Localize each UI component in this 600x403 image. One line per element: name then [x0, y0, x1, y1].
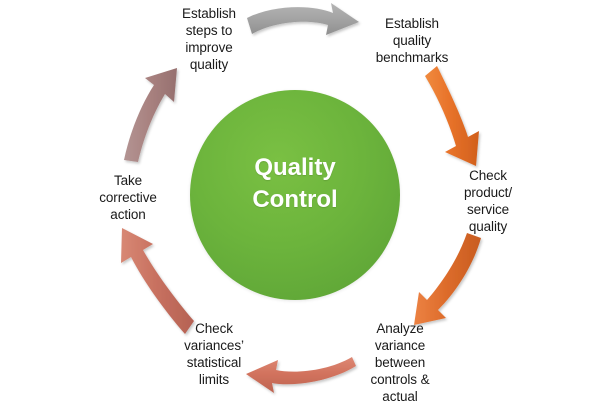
arrow-bottom: [246, 357, 356, 393]
arrow-upper-right: [425, 66, 479, 166]
arrow-top: [247, 3, 359, 35]
arrow-lower-left: [121, 228, 194, 334]
hub-circle: Quality Control: [190, 90, 400, 300]
step-label-check-variances-statistical-limits: Check variances’ statistical limits: [166, 320, 262, 388]
hub-label: Quality Control: [190, 152, 400, 216]
step-label-take-corrective-action: Take corrective action: [78, 172, 178, 223]
arrow-lower-right: [414, 233, 481, 325]
step-label-establish-steps-to-improve-quality: Establish steps to improve quality: [158, 5, 260, 73]
step-label-analyze-variance-between-controls-actual: Analyze variance between controls & actu…: [350, 320, 450, 403]
arrow-upper-left: [124, 68, 177, 162]
step-label-establish-quality-benchmarks: Establish quality benchmarks: [358, 15, 466, 66]
step-label-check-product-service-quality: Check product/ service quality: [440, 167, 536, 235]
diagram-canvas: Quality Control Establish steps to impro…: [0, 0, 600, 403]
